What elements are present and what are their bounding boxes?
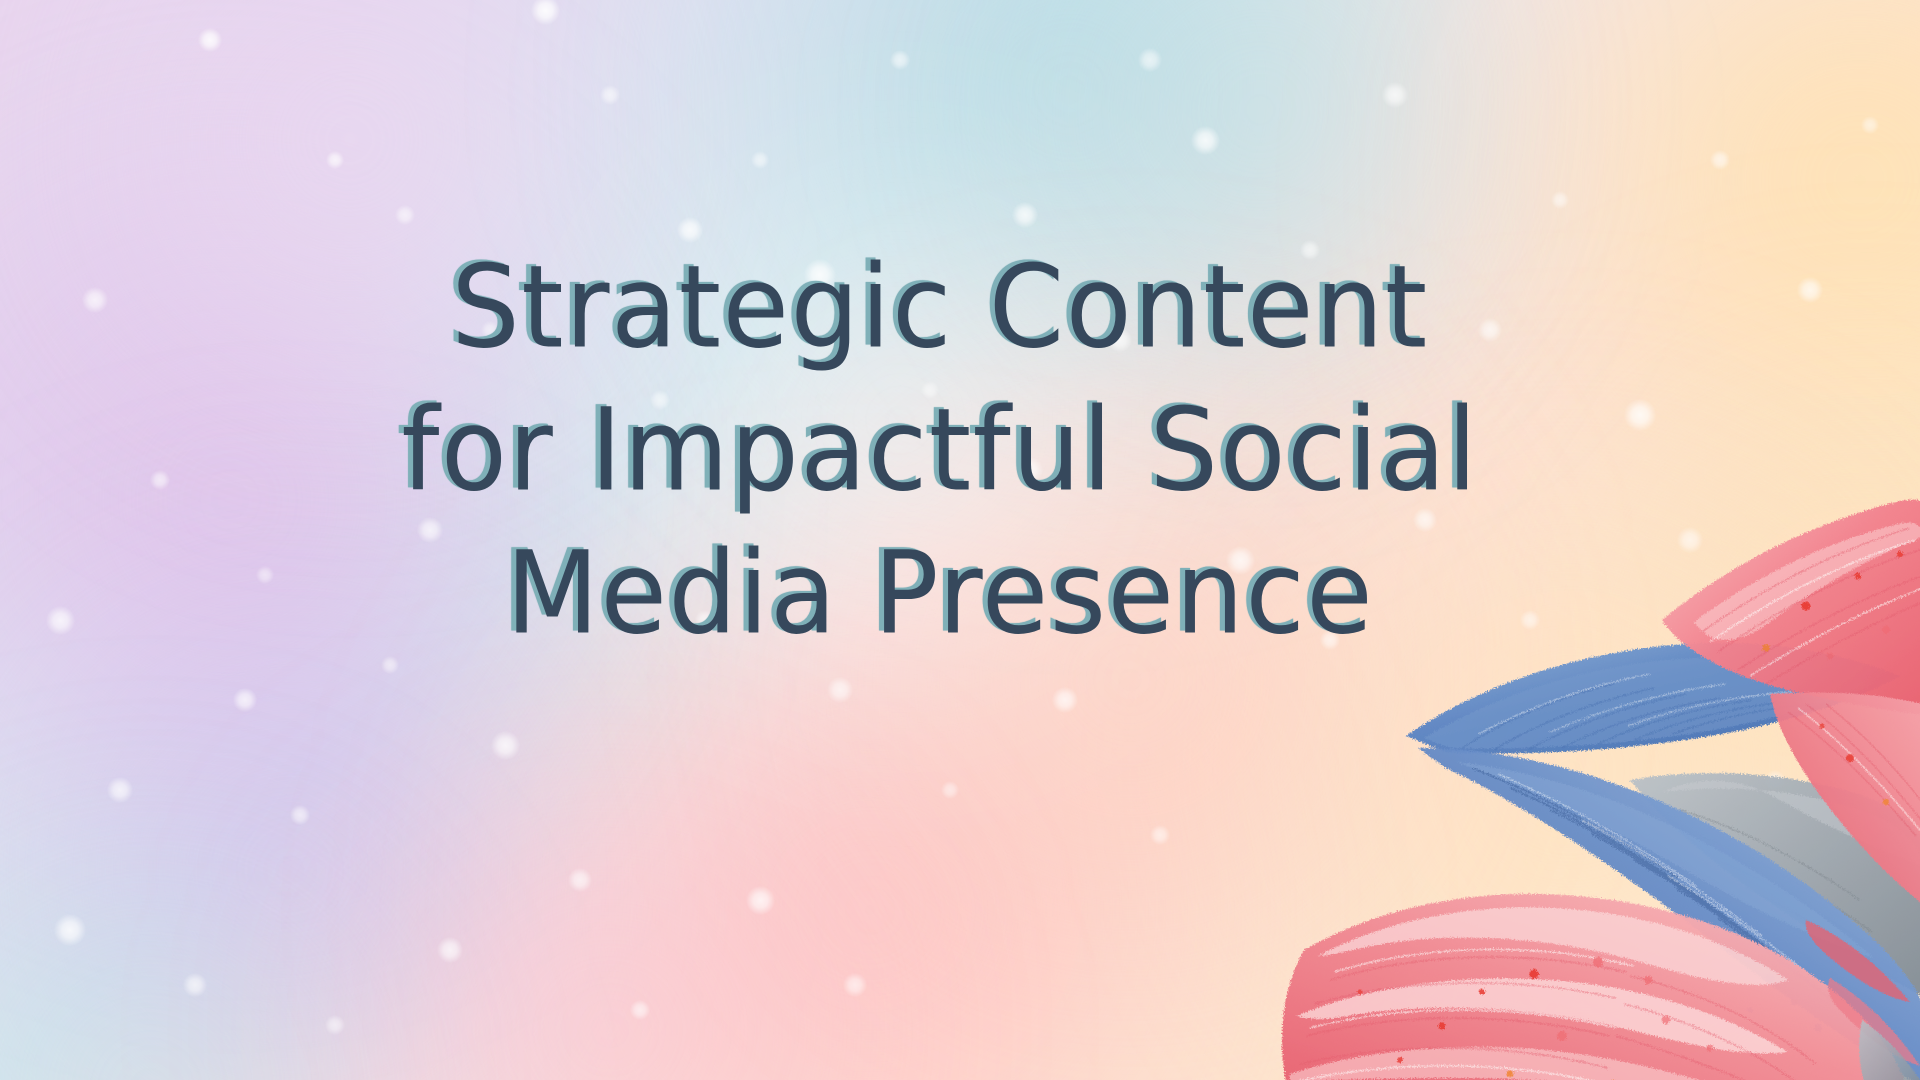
page-title: Strategic Content for Impactful Social M… [0,232,1920,661]
title-line-3: Media Presence [0,518,1880,670]
title-line-1: Strategic Content [0,232,1880,384]
banner-canvas: Strategic Content for Impactful Social M… [0,0,1920,1080]
title-line-2: for Impactful Social [0,375,1880,527]
